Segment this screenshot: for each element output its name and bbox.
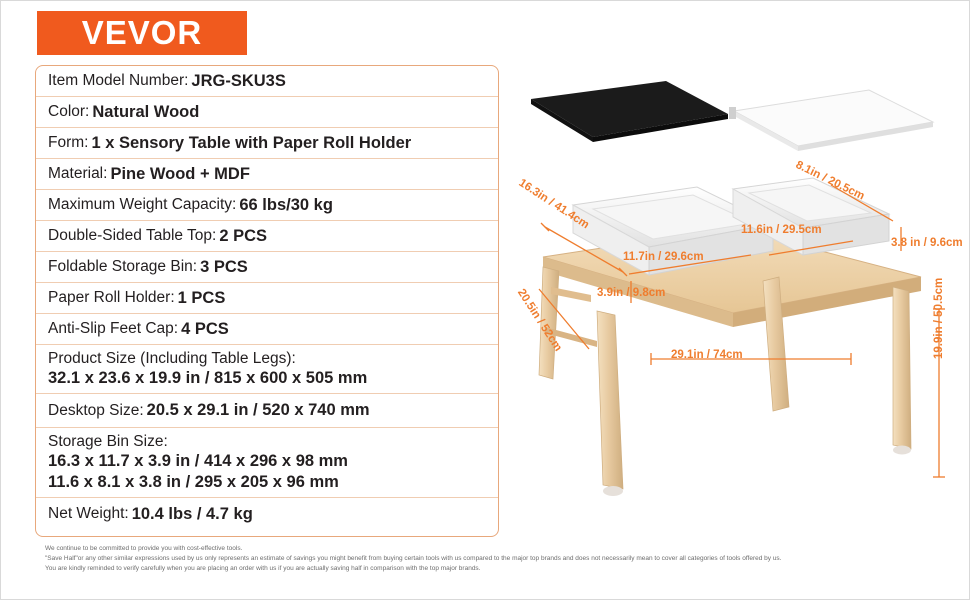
bin-size-label: Storage Bin Size:	[48, 432, 486, 451]
sensory-table-drawing	[501, 59, 969, 549]
net-weight-value: 10.4 lbs / 4.7 kg	[132, 505, 253, 524]
spec-value: Pine Wood + MDF	[110, 165, 250, 184]
spec-value: 1 PCS	[178, 289, 226, 308]
dimension-bin-small-depth: 3.8 in / 9.6cm	[891, 237, 963, 249]
spec-row-foldable-storage-bin: Foldable Storage Bin: 3 PCS	[36, 252, 498, 283]
desktop-size-label: Desktop Size:	[48, 402, 144, 420]
spec-row-double-sided-table-top: Double-Sided Table Top: 2 PCS	[36, 221, 498, 252]
brand-logo: VEVOR	[37, 11, 247, 55]
spec-row-max-weight-capacity: Maximum Weight Capacity: 66 lbs/30 kg	[36, 190, 498, 221]
spec-label: Material:	[48, 165, 107, 183]
spec-row-desktop-size: Desktop Size: 20.5 x 29.1 in / 520 x 740…	[36, 394, 498, 428]
bin-size-value-small: 11.6 x 8.1 x 3.8 in / 295 x 205 x 96 mm	[48, 472, 486, 493]
brand-logo-text: VEVOR	[82, 14, 203, 52]
dimension-bin-small-width: 11.6in / 29.5cm	[741, 224, 822, 236]
spec-label: Double-Sided Table Top:	[48, 227, 216, 245]
product-size-value: 32.1 x 23.6 x 19.9 in / 815 x 600 x 505 …	[48, 368, 486, 389]
spec-label: Form:	[48, 134, 88, 152]
spec-value: 3 PCS	[200, 258, 248, 277]
spec-row-color: Color: Natural Wood	[36, 97, 498, 128]
product-size-label: Product Size (Including Table Legs):	[48, 349, 486, 368]
black-table-top-panel	[531, 81, 728, 142]
spec-value: 1 x Sensory Table with Paper Roll Holder	[91, 134, 411, 153]
spec-value: Natural Wood	[92, 103, 199, 122]
net-weight-label: Net Weight:	[48, 505, 129, 523]
disclaimer-line-3: You are kindly reminded to verify carefu…	[45, 564, 945, 573]
spec-label: Foldable Storage Bin:	[48, 258, 197, 276]
spec-row-net-weight: Net Weight: 10.4 lbs / 4.7 kg	[36, 498, 498, 530]
spec-label: Color:	[48, 103, 89, 121]
spec-value: 66 lbs/30 kg	[239, 196, 333, 215]
spec-row-form: Form: 1 x Sensory Table with Paper Roll …	[36, 128, 498, 159]
spec-label: Item Model Number:	[48, 72, 188, 90]
white-table-top-panel	[729, 90, 933, 151]
spec-row-anti-slip-feet-cap: Anti-Slip Feet Cap: 4 PCS	[36, 314, 498, 345]
product-illustration: 16.3in / 41.4cm 11.7in / 29.6cm 3.9in / …	[501, 59, 969, 549]
spec-label: Anti-Slip Feet Cap:	[48, 320, 178, 338]
dimension-bin-large-width: 11.7in / 29.6cm	[623, 251, 704, 263]
spec-row-material: Material: Pine Wood + MDF	[36, 159, 498, 190]
spec-value: 2 PCS	[219, 227, 267, 246]
dimension-table-height: 19.9in / 50.5cm	[933, 278, 945, 359]
spec-row-model-number: Item Model Number: JRG-SKU3S	[36, 66, 498, 97]
spec-value: 4 PCS	[181, 320, 229, 339]
desktop-size-value: 20.5 x 29.1 in / 520 x 740 mm	[147, 401, 370, 420]
bin-size-value-large: 16.3 x 11.7 x 3.9 in / 414 x 296 x 98 mm	[48, 451, 486, 472]
dimension-bin-large-depth: 3.9in / 9.8cm	[597, 287, 665, 299]
product-spec-page: VEVOR Item Model Number: JRG-SKU3S Color…	[0, 0, 970, 600]
spec-label: Paper Roll Holder:	[48, 289, 175, 307]
dimension-table-width: 29.1in / 74cm	[671, 349, 743, 361]
spec-row-product-size: Product Size (Including Table Legs): 32.…	[36, 345, 498, 394]
spec-row-storage-bin-size: Storage Bin Size: 16.3 x 11.7 x 3.9 in /…	[36, 428, 498, 498]
specification-panel: Item Model Number: JRG-SKU3S Color: Natu…	[35, 65, 499, 537]
disclaimer-line-2: "Save Half"or any other similar expressi…	[45, 554, 945, 563]
spec-label: Maximum Weight Capacity:	[48, 196, 236, 214]
spec-row-paper-roll-holder: Paper Roll Holder: 1 PCS	[36, 283, 498, 314]
spec-value: JRG-SKU3S	[191, 72, 285, 91]
